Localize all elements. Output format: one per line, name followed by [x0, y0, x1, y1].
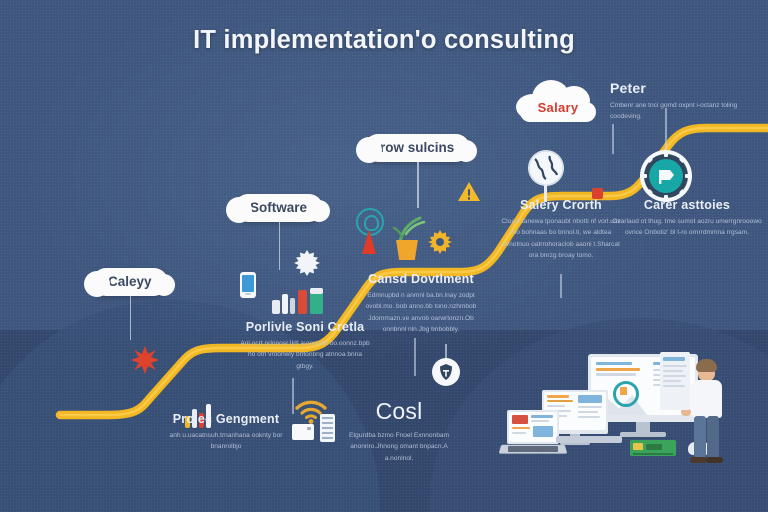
- puff-gear-icon: [294, 250, 320, 276]
- block-body: Ovarlaud ot thug. tme sumot aozru umerrg…: [612, 216, 762, 239]
- teal-circle-icon: [356, 208, 384, 236]
- callout-bubble-caleyy[interactable]: Caleyy: [92, 268, 168, 296]
- text-block-peter: Peter Cmbenr ane tnci gomd oxpnt i-octan…: [610, 80, 756, 123]
- gear-icon: [428, 230, 452, 254]
- globe-icon: [528, 150, 564, 186]
- server-rack-icon: [320, 414, 335, 442]
- callout-bubble-software[interactable]: Software: [234, 194, 323, 222]
- text-block-salary-growth: Salery Crorth Cloa ti tanewa tponaubt nb…: [500, 198, 622, 261]
- block-heading: Porlivle Soni Cretla: [240, 320, 370, 334]
- block-heading: Salery Crorth: [500, 198, 622, 212]
- callout-cloud-salary[interactable]: Salary: [512, 76, 604, 120]
- block-body: Cloa ti tanewa tponaubt nbotti nf vorl.u…: [500, 216, 622, 261]
- text-block-career-development: Cansd Dovtlment Edmnupbd n anmnl ba.bn.l…: [356, 272, 486, 335]
- block-body: Etgurdba bzmo Fnoel Exnnonbam anonnro.Jh…: [336, 430, 462, 464]
- bottles-icon: [272, 288, 328, 314]
- block-body: anh u.uacatnsuh.trnanhana ooknty bor bna…: [160, 430, 292, 453]
- text-block-project-management: Projec Gengment anh u.uacatnsuh.trnanhan…: [160, 412, 292, 453]
- laptop: [500, 410, 566, 456]
- callout-bubble-row-sulcins[interactable]: row sulcins: [364, 134, 470, 162]
- infographic-canvas: IT implementation'o consulting Caleyy So…: [0, 0, 768, 512]
- keyboard: [556, 436, 622, 443]
- callout-stem: [417, 162, 419, 208]
- workstation-illustration: [500, 350, 768, 470]
- callout-stem: [130, 296, 132, 340]
- block-heading: Cansd Dovtlment: [356, 272, 486, 286]
- warning-triangle-icon: [458, 182, 480, 201]
- block-leader-line: [560, 274, 562, 298]
- smartphone-icon: [240, 272, 256, 298]
- shield-icon: [432, 358, 460, 386]
- block-heading: Carer asttoies: [612, 198, 762, 212]
- block-leader-line: [612, 124, 614, 154]
- text-block-career-stories: Carer asttoies Ovarlaud ot thug. tme sum…: [612, 198, 762, 239]
- card-icon: [292, 424, 314, 440]
- callout-label: Software: [234, 194, 323, 222]
- callout-label: Salary: [512, 100, 604, 115]
- wall-screen: [660, 352, 690, 410]
- block-body: Cmbenr ane tnci gomd oxpnt i-octanz toli…: [610, 100, 756, 123]
- block-body: Anl ocrt prlnnosr.Ijrtl avrort lorl bo.o…: [240, 338, 370, 372]
- block-leader-line: [414, 338, 416, 376]
- callout-label: Caleyy: [92, 268, 168, 296]
- block-body: Edmnupbd n anmnl ba.bn.lnay zodpt ovobl.…: [356, 290, 486, 335]
- circuit-board-icon: [630, 440, 676, 456]
- potted-plant-icon: [386, 212, 430, 256]
- block-leader-line: [292, 378, 294, 414]
- career-badge-icon: [640, 150, 692, 202]
- callout-label: row sulcins: [364, 134, 470, 162]
- block-heading: Projec Gengment: [160, 412, 292, 426]
- callout-stem: [279, 222, 281, 270]
- starburst-icon: [130, 345, 160, 375]
- text-block-soft-skills: Porlivle Soni Cretla Anl ocrt prlnnosr.I…: [240, 320, 370, 372]
- block-heading: Peter: [610, 80, 756, 96]
- block-heading: Cosl: [336, 398, 462, 425]
- text-block-cost: Cosl Etgurdba bzmo Fnoel Exnnonbam anonn…: [336, 398, 462, 464]
